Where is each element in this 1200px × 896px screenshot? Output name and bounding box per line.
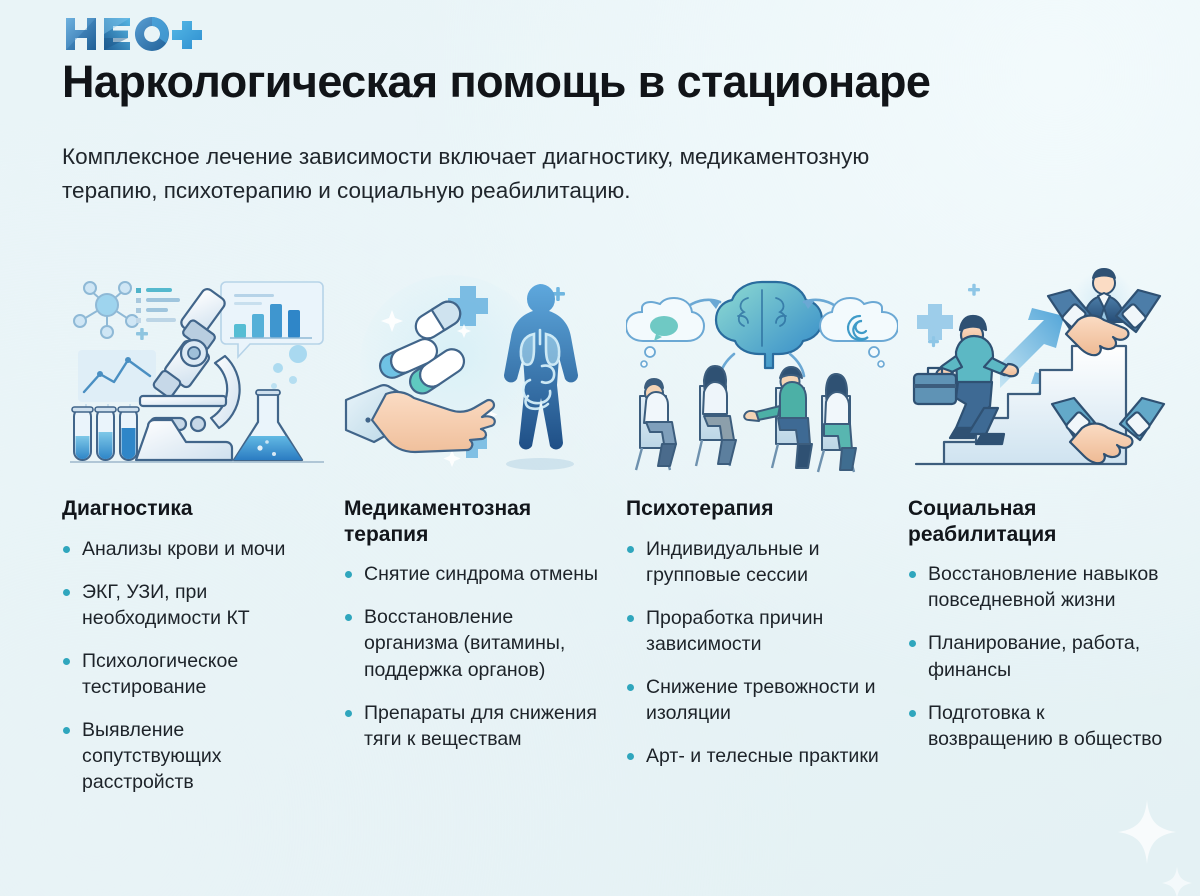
column-social-rehabilitation: Социальная реабилитация Восстановление н… xyxy=(908,268,1193,888)
list-item: Подготовка к возвращению в общество xyxy=(908,700,1166,752)
bubbles-icon xyxy=(271,345,307,389)
list-item: Восстановление навыков повседневной жизн… xyxy=(908,561,1166,613)
column-heading-diagnostics: Диагностика xyxy=(62,496,324,522)
list-item: Снятие синдрома отмены xyxy=(344,561,602,587)
bullet-list-psychotherapy: Индивидуальные и групповые сессии Прораб… xyxy=(626,536,903,770)
column-heading-social-rehabilitation: Социальная реабилитация xyxy=(908,496,1170,547)
column-medication-therapy: Медикаментозная терапия Снятие синдрома … xyxy=(344,268,629,888)
list-item: ЭКГ, УЗИ, при необходимости КТ xyxy=(62,579,320,631)
list-item: Арт- и телесные практики xyxy=(626,743,884,769)
column-heading-medication-therapy: Медикаментозная терапия xyxy=(344,496,606,547)
document-lines-icon xyxy=(136,288,180,323)
test-tubes-icon xyxy=(72,407,139,460)
seated-people-circle-icon xyxy=(636,366,856,472)
list-item: Восстановление организма (витамины, подд… xyxy=(344,604,602,682)
plus-icon xyxy=(136,328,148,340)
thought-bubble-icon xyxy=(626,298,704,367)
bullet-list-diagnostics: Анализы крови и мочи ЭКГ, УЗИ, при необх… xyxy=(62,536,339,796)
page-subtitle: Комплексное лечение зависимости включает… xyxy=(62,140,962,208)
page-title: Наркологическая помощь в стационаре xyxy=(62,57,1162,107)
list-item: Препараты для снижения тяги к веществам xyxy=(344,700,602,752)
career-stairs-handshake-icon xyxy=(908,268,1180,480)
column-diagnostics: Диагностика Анализы крови и мочи ЭКГ, УЗ… xyxy=(62,268,347,888)
microscope-lab-icon xyxy=(62,268,334,480)
thought-bubble-icon xyxy=(820,298,898,367)
list-item: Проработка причин зависимости xyxy=(626,605,884,657)
molecule-icon xyxy=(74,282,138,338)
list-item: Выявление сопутствующих расстройств xyxy=(62,717,320,795)
group-therapy-brain-icon xyxy=(626,268,898,480)
list-item: Индивидуальные и групповые сессии xyxy=(626,536,884,588)
handshake-icon xyxy=(1048,269,1160,355)
list-item: Анализы крови и мочи xyxy=(62,536,320,562)
column-heading-psychotherapy: Психотерапия xyxy=(626,496,888,522)
list-item: Планирование, работа, финансы xyxy=(908,630,1166,682)
hand-pills-body-icon xyxy=(344,268,616,480)
list-item: Снижение тревожности и изоляции xyxy=(626,674,884,726)
bar-chart-icon xyxy=(221,282,323,357)
list-item: Психологическое тестирование xyxy=(62,648,320,700)
briefcase-icon xyxy=(914,368,956,404)
columns-container: Диагностика Анализы крови и мочи ЭКГ, УЗ… xyxy=(0,268,1200,888)
bullet-list-medication-therapy: Снятие синдрома отмены Восстановление ор… xyxy=(344,561,621,752)
erlenmeyer-flask-icon xyxy=(234,390,302,460)
column-psychotherapy: Психотерапия Индивидуальные и групповые … xyxy=(626,268,911,888)
bullet-list-social-rehabilitation: Восстановление навыков повседневной жизн… xyxy=(908,561,1185,752)
infographic-page: Наркологическая помощь в стационаре Комп… xyxy=(0,0,1200,896)
neo-plus-logo xyxy=(62,12,202,56)
